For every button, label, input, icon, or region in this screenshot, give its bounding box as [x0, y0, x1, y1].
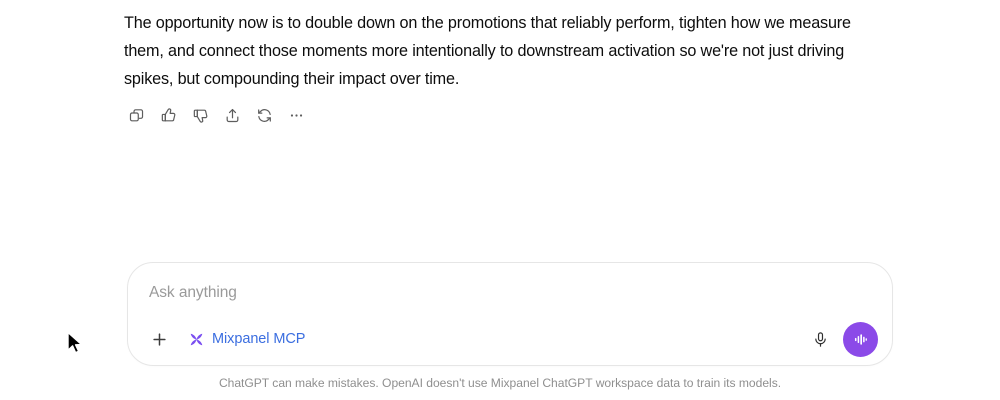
composer-toolbar: Mixpanel MCP — [128, 313, 892, 365]
voice-mode-button[interactable] — [843, 322, 878, 357]
add-attachment-button[interactable] — [146, 326, 172, 352]
copy-icon[interactable] — [124, 103, 148, 127]
message-composer[interactable]: Ask anything Mixpane — [127, 262, 893, 366]
mixpanel-logo-icon — [188, 331, 205, 348]
composer-placeholder[interactable]: Ask anything — [149, 284, 237, 302]
microphone-icon[interactable] — [806, 325, 834, 353]
regenerate-icon[interactable] — [252, 103, 276, 127]
footer-disclaimer: ChatGPT can make mistakes. OpenAI doesn'… — [0, 376, 1000, 390]
voice-waveform-icon — [851, 330, 870, 349]
assistant-message: The opportunity now is to double down on… — [124, 9, 886, 93]
more-options-icon[interactable] — [284, 103, 308, 127]
thumbs-down-icon[interactable] — [188, 103, 212, 127]
chatgpt-conversation-view: The opportunity now is to double down on… — [0, 0, 1000, 400]
message-action-toolbar — [124, 103, 308, 127]
mouse-pointer — [66, 331, 84, 355]
thumbs-up-icon[interactable] — [156, 103, 180, 127]
assistant-message-text: The opportunity now is to double down on… — [124, 9, 886, 93]
mixpanel-mcp-label: Mixpanel MCP — [212, 331, 305, 347]
share-icon[interactable] — [220, 103, 244, 127]
mixpanel-mcp-chip[interactable]: Mixpanel MCP — [184, 329, 309, 350]
